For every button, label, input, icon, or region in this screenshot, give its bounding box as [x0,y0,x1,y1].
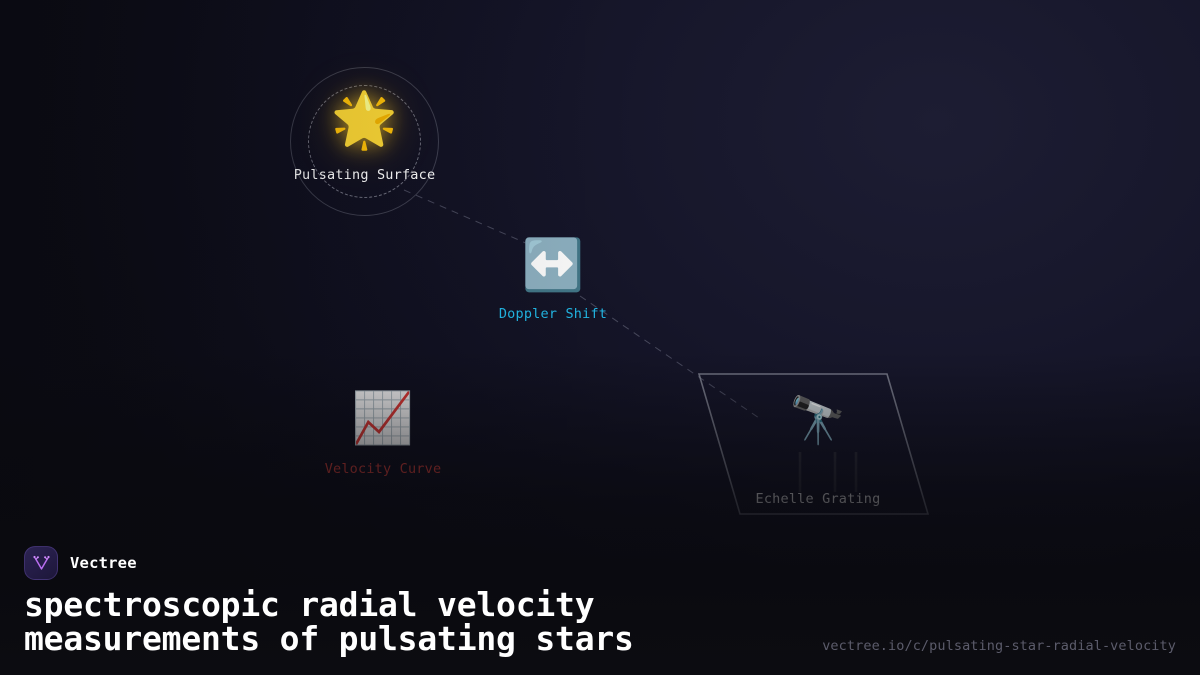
telescope-icon: 🔭 [779,394,857,446]
page-title: spectroscopic radial velocity measuremen… [24,588,634,656]
glowing-star-icon: 🌟 [290,93,439,147]
node-echelle-grating[interactable]: 🔭 Echelle Grating [683,366,943,521]
left-right-arrow-icon: ↔️ [501,236,605,294]
node-velocity-curve[interactable]: 📈 Velocity Curve [331,389,435,485]
vectree-v-tree-icon [24,546,58,580]
node-label-doppler-shift: Doppler Shift [473,306,633,322]
footer: Vectree spectroscopic radial velocity me… [0,538,1200,675]
brand: Vectree [24,546,137,580]
chart-increasing-icon: 📈 [331,389,435,447]
node-label-echelle-grating: Echelle Grating [733,491,903,507]
brand-name: Vectree [70,554,137,572]
diagram-canvas: 🌟 Pulsating Surface ↔️ Doppler Shift 📈 V… [0,0,1200,675]
site-url: vectree.io/c/pulsating-star-radial-veloc… [822,638,1176,654]
node-label-pulsating-surface: Pulsating Surface [260,167,469,183]
node-label-velocity-curve: Velocity Curve [303,461,463,477]
node-doppler-shift[interactable]: ↔️ Doppler Shift [501,236,605,326]
node-pulsating-surface[interactable]: 🌟 Pulsating Surface [290,67,439,216]
